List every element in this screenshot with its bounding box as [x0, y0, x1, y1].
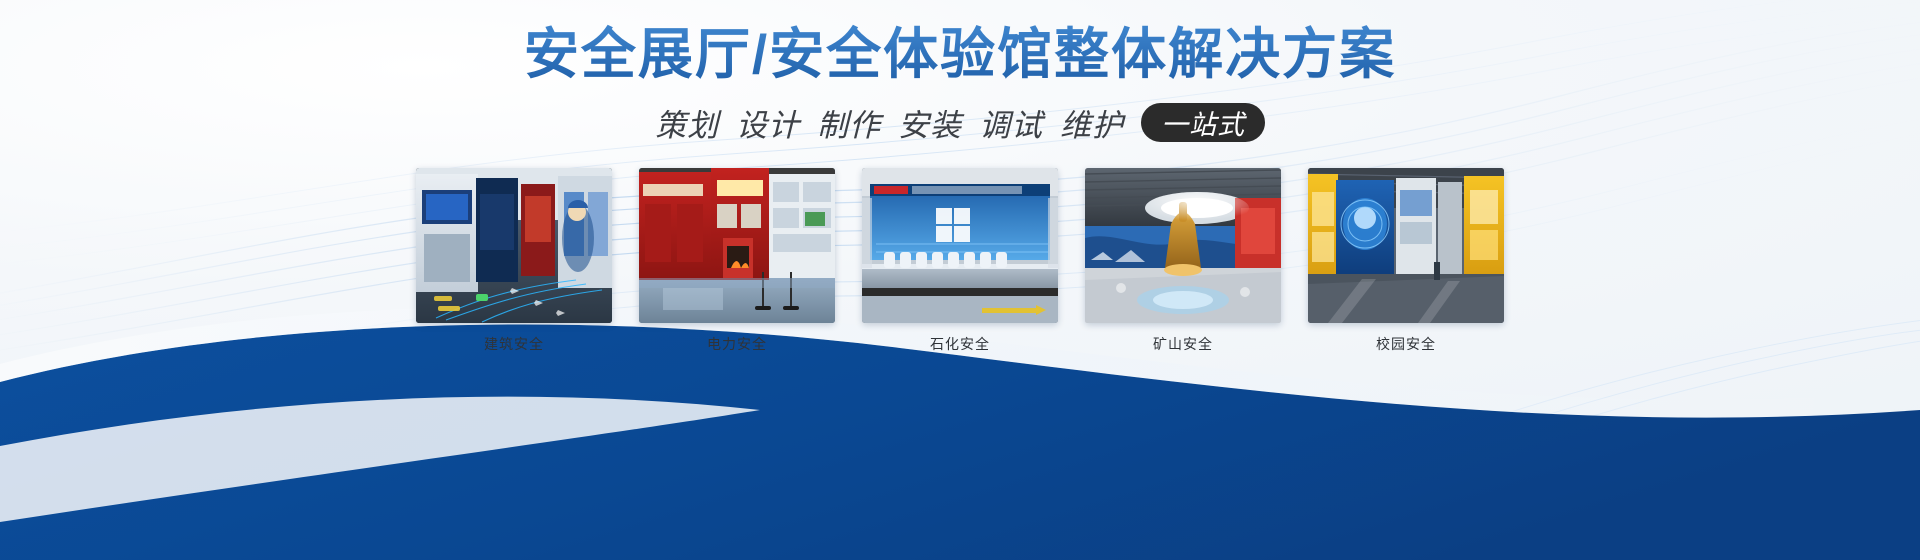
- subtitle-word-planning: 策划: [655, 100, 719, 145]
- thumbnail-item[interactable]: 电力安全: [639, 168, 835, 354]
- thumbnail-image-campus[interactable]: [1308, 168, 1504, 323]
- subtitle-word-debugging: 调试: [979, 100, 1043, 145]
- thumbnail-gallery: 建筑安全: [0, 168, 1920, 354]
- subtitle-word-maintenance: 维护: [1060, 100, 1124, 145]
- one-stop-badge: 一站式: [1141, 103, 1265, 142]
- subtitle-word-production: 制作: [817, 100, 881, 145]
- safety-exhibition-banner: 安全展厅/安全体验馆整体解决方案 策划 设计 制作 安装 调试 维护 一站式: [0, 0, 1920, 560]
- thumbnail-item[interactable]: 石化安全: [862, 168, 1058, 354]
- thumbnail-image-construction[interactable]: [416, 168, 612, 323]
- thumbnail-image-mining[interactable]: [1085, 168, 1281, 323]
- subtitle-word-installation: 安装: [898, 100, 962, 145]
- thumbnail-image-electric[interactable]: [639, 168, 835, 323]
- subtitle-word-design: 设计: [736, 100, 800, 145]
- thumbnail-caption: 校园安全: [1308, 334, 1504, 354]
- thumbnail-image-petrochemical[interactable]: [862, 168, 1058, 323]
- thumbnail-item[interactable]: 矿山安全: [1085, 168, 1281, 354]
- thumbnail-item[interactable]: 建筑安全: [416, 168, 612, 354]
- thumbnail-caption: 石化安全: [862, 334, 1058, 354]
- thumbnail-item[interactable]: 校园安全: [1308, 168, 1504, 354]
- thumbnail-caption: 建筑安全: [416, 334, 612, 354]
- thumbnail-caption: 电力安全: [639, 334, 835, 354]
- thumbnail-caption: 矿山安全: [1085, 334, 1281, 354]
- subtitle-row: 策划 设计 制作 安装 调试 维护 一站式: [0, 100, 1920, 145]
- page-title: 安全展厅/安全体验馆整体解决方案: [0, 22, 1920, 87]
